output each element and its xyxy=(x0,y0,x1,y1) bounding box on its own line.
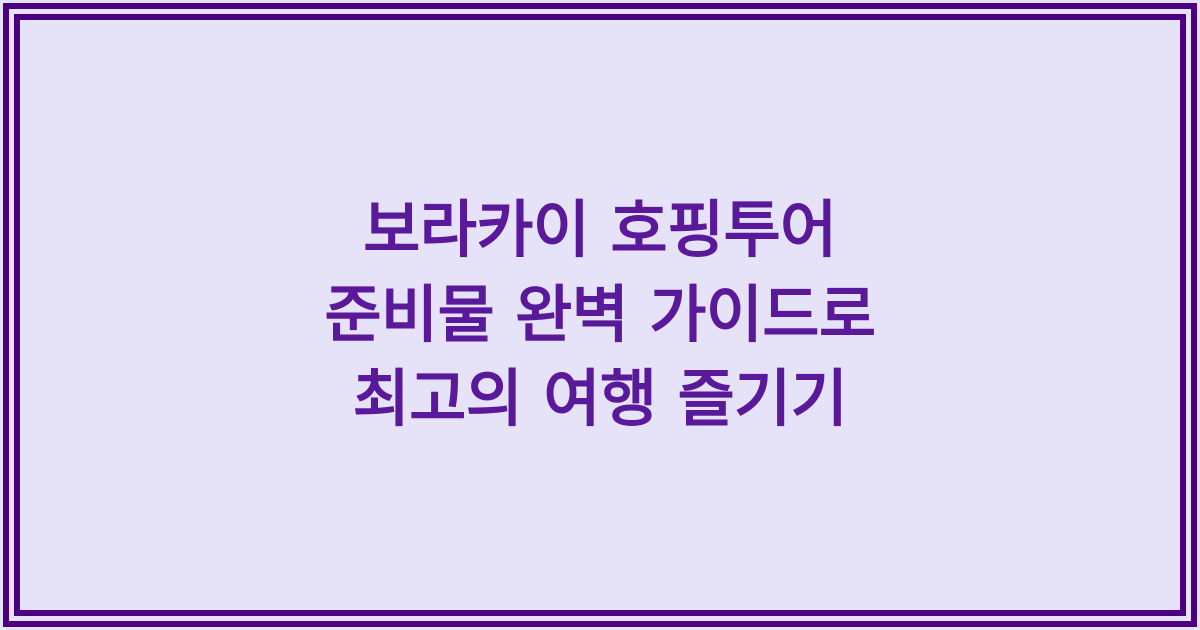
headline-container: 보라카이 호핑투어 준비물 완벽 가이드로 최고의 여행 즐기기 xyxy=(20,20,1180,610)
title-line-1: 보라카이 호핑투어 xyxy=(324,188,875,273)
title-line-3: 최고의 여행 즐기기 xyxy=(324,357,875,442)
page-title: 보라카이 호핑투어 준비물 완벽 가이드로 최고의 여행 즐기기 xyxy=(284,188,915,443)
thumbnail-card: 보라카이 호핑투어 준비물 완벽 가이드로 최고의 여행 즐기기 xyxy=(0,0,1200,630)
title-line-2: 준비물 완벽 가이드로 xyxy=(324,273,875,358)
